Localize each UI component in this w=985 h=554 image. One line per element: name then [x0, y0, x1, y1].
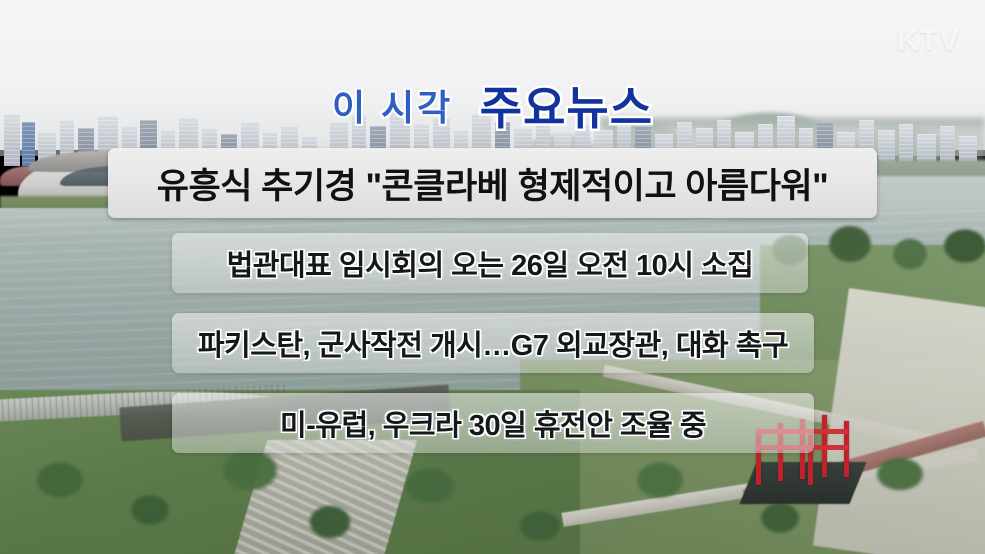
sub-headline-banner-2: 파키스탄, 군사작전 개시…G7 외교장관, 대화 촉구 — [172, 313, 814, 373]
sub-headline-banner-1: 법관대표 임시회의 오는 26일 오전 10시 소집 — [172, 233, 808, 293]
sub-headline-text-2: 파키스탄, 군사작전 개시…G7 외교장관, 대화 촉구 — [198, 322, 788, 364]
main-headline-banner: 유흥식 추기경 "콘클라베 형제적이고 아름다워" — [108, 148, 877, 218]
ktv-channel-watermark: KTV — [897, 24, 960, 58]
sub-headline-banner-3: 미-유럽, 우크라 30일 휴전안 조율 중 — [172, 393, 814, 453]
sub-headline-text-3: 미-유럽, 우크라 30일 휴전안 조율 중 — [280, 402, 706, 444]
section-title-main: 주요뉴스 — [480, 82, 653, 134]
broadcast-screen: KTV 이 시각 주요뉴스 유흥식 추기경 "콘클라베 형제적이고 아름다워" … — [0, 0, 985, 554]
sub-headline-text-1: 법관대표 임시회의 오는 26일 오전 10시 소집 — [227, 242, 754, 284]
main-headline-text: 유흥식 추기경 "콘클라베 형제적이고 아름다워" — [157, 158, 828, 209]
section-title-prefix: 이 시각 — [332, 87, 453, 128]
section-title: 이 시각 주요뉴스 — [0, 72, 985, 138]
